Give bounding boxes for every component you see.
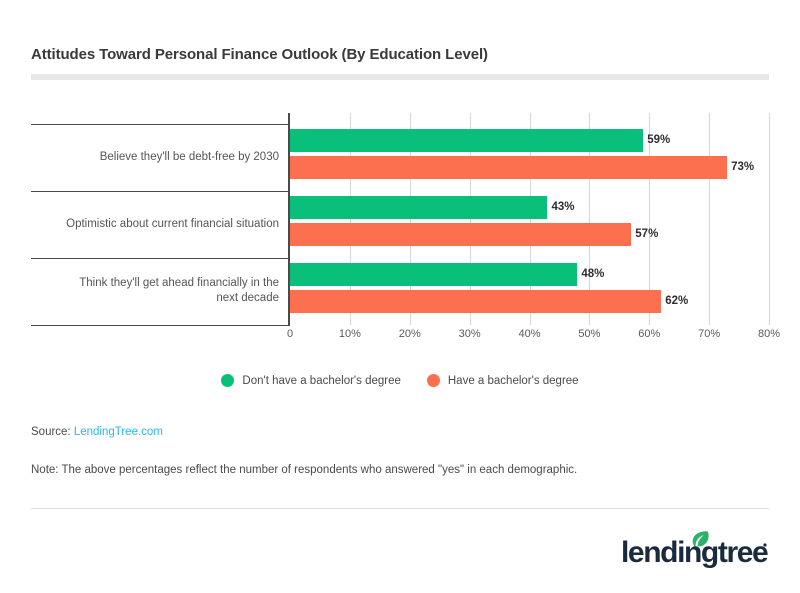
- title-divider: [31, 74, 769, 80]
- legend-label: Don't have a bachelor's degree: [242, 375, 400, 387]
- bar: [290, 196, 547, 219]
- lendingtree-logo: lendingtree: [621, 533, 769, 569]
- bar-value-label: 57%: [635, 223, 658, 246]
- chart-legend: Don't have a bachelor's degree Have a ba…: [0, 374, 800, 387]
- category-label-line: next decade: [31, 291, 279, 306]
- category-label: Believe they'll be debt-free by 2030: [31, 150, 279, 165]
- category-label-line: Optimistic about current financial situa…: [31, 217, 279, 232]
- x-tick-label: 60%: [638, 328, 660, 340]
- bar-value-label: 59%: [647, 129, 670, 152]
- bar-value-label: 62%: [665, 290, 688, 313]
- category-label-line: Believe they'll be debt-free by 2030: [31, 150, 279, 165]
- bar-value-label: 73%: [731, 156, 754, 179]
- x-tick-label: 50%: [578, 328, 600, 340]
- source-prefix: Source:: [31, 426, 74, 438]
- chart-title: Attitudes Toward Personal Finance Outloo…: [31, 46, 488, 63]
- bar-value-label: 43%: [551, 196, 574, 219]
- bar: [290, 156, 727, 179]
- legend-label: Have a bachelor's degree: [448, 375, 579, 387]
- x-axis-ticks: 010%20%30%40%50%60%70%80%: [31, 328, 769, 348]
- category-label-line: Think they'll get ahead financially in t…: [31, 276, 279, 291]
- legend-item-no-degree[interactable]: Don't have a bachelor's degree: [221, 374, 400, 387]
- bar: [290, 263, 577, 286]
- legend-swatch-icon: [221, 374, 234, 387]
- category-labels: Believe they'll be debt-free by 2030 Opt…: [31, 113, 279, 325]
- x-tick-label: 10%: [339, 328, 361, 340]
- bar-group-container: 59%43%48%73%57%62%: [290, 113, 769, 325]
- bar: [290, 223, 631, 246]
- svg-text:lendingtree: lendingtree: [621, 536, 768, 569]
- chart-page: Attitudes Toward Personal Finance Outloo…: [0, 0, 800, 593]
- legend-swatch-icon: [427, 374, 440, 387]
- legend-item-has-degree[interactable]: Have a bachelor's degree: [427, 374, 579, 387]
- x-tick-label: 70%: [698, 328, 720, 340]
- plot-area: Believe they'll be debt-free by 2030 Opt…: [31, 113, 769, 325]
- footer-divider: [31, 508, 769, 509]
- source-line: Source: LendingTree.com: [31, 426, 163, 438]
- category-label: Think they'll get ahead financially in t…: [31, 276, 279, 306]
- category-separator: [31, 325, 290, 326]
- bar: [290, 129, 643, 152]
- lendingtree-wordmark-icon: lendingtree: [621, 529, 769, 569]
- category-label: Optimistic about current financial situa…: [31, 217, 279, 232]
- gridline: [769, 113, 770, 325]
- note-line: Note: The above percentages reflect the …: [31, 464, 577, 476]
- bar-value-label: 48%: [581, 263, 604, 286]
- x-tick-label: 80%: [758, 328, 780, 340]
- x-tick-label: 0: [287, 328, 293, 340]
- x-tick-label: 30%: [459, 328, 481, 340]
- x-tick-label: 20%: [399, 328, 421, 340]
- x-tick-label: 40%: [518, 328, 540, 340]
- bar: [290, 290, 661, 313]
- source-link[interactable]: LendingTree.com: [74, 426, 163, 438]
